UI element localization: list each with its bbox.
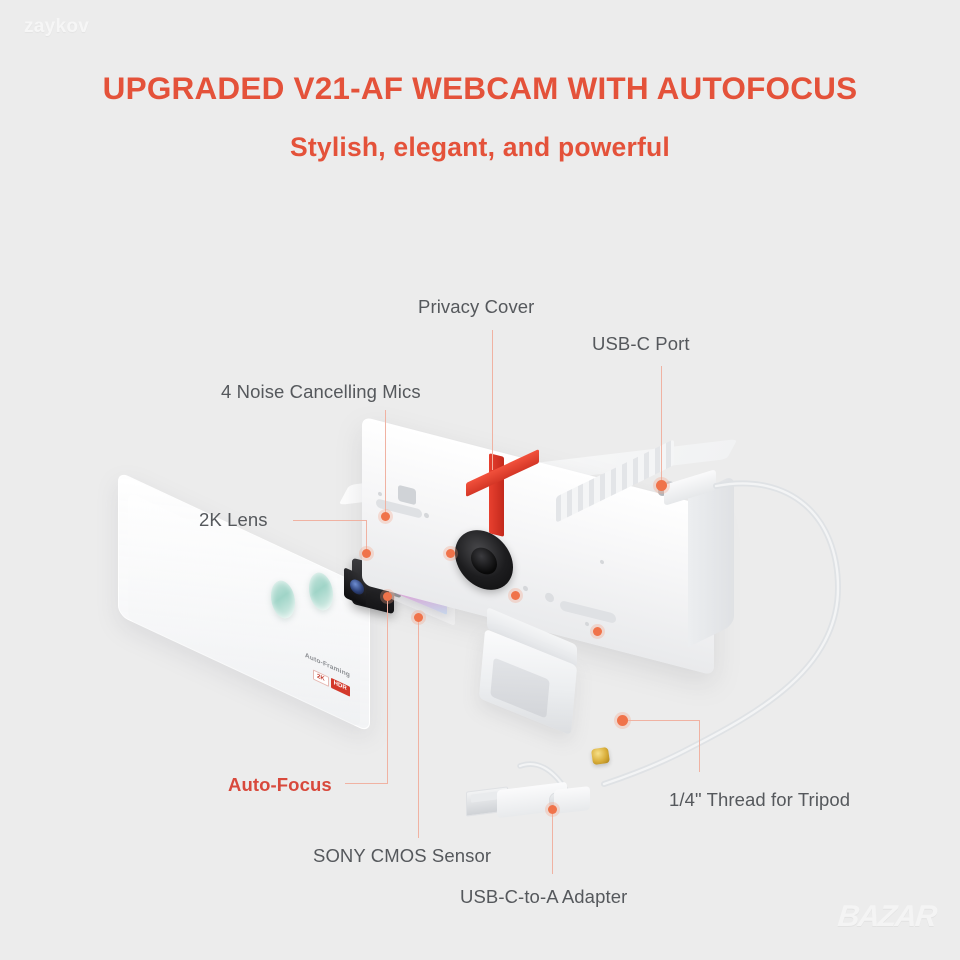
screw-hole-2 (424, 512, 429, 518)
marker-body-screw-b (511, 591, 520, 600)
label-2k-lens: 2K Lens (199, 509, 268, 531)
leader-tripod-v (699, 720, 700, 772)
label-privacy-cover: Privacy Cover (418, 296, 534, 318)
page-headline: UPGRADED V21-AF WEBCAM WITH AUTOFOCUS (0, 70, 960, 107)
marker-autofocus (383, 592, 392, 601)
leader-autofocus-h (345, 783, 388, 784)
screw-hole-4 (585, 622, 589, 627)
webcam-right-cap (688, 475, 734, 647)
marker-2k-lens (362, 549, 371, 558)
screw-hole-1 (378, 492, 382, 497)
marker-tripod-thread (617, 715, 628, 726)
label-usb-adapter: USB-C-to-A Adapter (460, 886, 627, 908)
marker-mics (381, 512, 390, 521)
screw-hole-3 (523, 585, 528, 591)
leader-tripod-h (628, 720, 700, 721)
marker-cmos-sensor (414, 613, 423, 622)
label-usb-c-port: USB-C Port (592, 333, 690, 355)
leader-usb-adapter (552, 812, 553, 874)
leader-cmos-sensor (418, 620, 419, 838)
marker-body-screw-c (593, 627, 602, 636)
label-auto-focus: Auto-Focus (228, 774, 332, 796)
watermark-zaykov: zaykov (24, 16, 89, 38)
page-subhead: Stylish, elegant, and powerful (0, 132, 960, 163)
infographic-canvas: Auto-Framing 2K HDR (0, 0, 960, 960)
tripod-thread-nut (591, 747, 610, 765)
marker-body-screw-a (446, 549, 455, 558)
label-cmos-sensor: SONY CMOS Sensor (313, 845, 491, 867)
leader-mics (385, 410, 386, 518)
leader-autofocus-v (387, 600, 388, 784)
screw-hole-5 (600, 560, 604, 565)
label-mics: 4 Noise Cancelling Mics (221, 381, 421, 403)
marker-usb-c-port (656, 480, 667, 491)
leader-privacy-cover (492, 330, 493, 470)
label-tripod-thread: 1/4" Thread for Tripod (669, 789, 850, 811)
usb-c-male-housing (554, 786, 590, 814)
marker-usb-adapter (548, 805, 557, 814)
leader-usb-c-port (661, 366, 662, 484)
leader-2k-lens-h (293, 520, 367, 521)
watermark-bazar: BAZAR (836, 900, 937, 934)
